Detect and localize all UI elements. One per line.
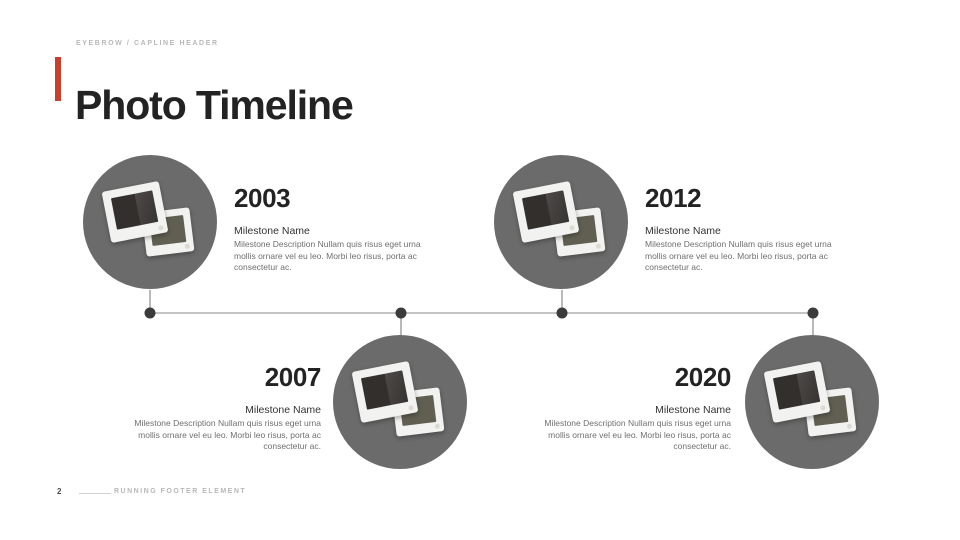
photo-slide-knob [185, 243, 191, 249]
milestone-name: Milestone Name [535, 403, 731, 417]
milestone-description: Milestone Description Nullam quis risus … [234, 239, 430, 274]
footer-label: RUNNING FOOTER ELEMENT [114, 488, 246, 495]
title-accent-bar [55, 57, 61, 101]
milestone-year: 2003 [234, 183, 430, 213]
photo-slide-knob [596, 243, 602, 249]
photo-slide-knob [569, 225, 575, 231]
photo-slide-window [111, 190, 158, 229]
timeline-node-dot-2020[interactable] [808, 308, 819, 319]
milestone-name: Milestone Name [645, 224, 841, 238]
photo-slide-front [352, 361, 419, 423]
milestone-year: 2007 [125, 362, 321, 392]
milestone-name: Milestone Name [125, 403, 321, 417]
milestone-2012: 2012 Milestone Name Milestone Descriptio… [645, 183, 841, 274]
footer-divider [79, 493, 111, 494]
timeline-axis [149, 312, 812, 314]
milestone-2020: 2020 Milestone Name Milestone Descriptio… [535, 362, 731, 453]
timeline-node-dot-2012[interactable] [557, 308, 568, 319]
photo-slide-front [764, 361, 831, 423]
photo-slide-window [522, 190, 569, 229]
page-title: Photo Timeline [75, 82, 353, 128]
photo-slide-window [773, 370, 820, 409]
milestone-year: 2020 [535, 362, 731, 392]
photo-slide-knob [847, 423, 853, 429]
photo-circle-2020[interactable] [745, 335, 879, 469]
photo-circle-2003[interactable] [83, 155, 217, 289]
milestone-name: Milestone Name [234, 224, 430, 238]
photo-slides-icon [102, 184, 198, 260]
photo-circle-2012[interactable] [494, 155, 628, 289]
timeline-node-dot-2007[interactable] [396, 308, 407, 319]
milestone-year: 2012 [645, 183, 841, 213]
photo-slide-front [102, 181, 169, 243]
footer-page-number: 2 [57, 487, 61, 496]
photo-slides-icon [513, 184, 609, 260]
photo-slide-knob [158, 225, 164, 231]
photo-circle-2007[interactable] [333, 335, 467, 469]
photo-slide-window [361, 370, 408, 409]
photo-slides-icon [352, 364, 448, 440]
eyebrow-label: EYEBROW / CAPLINE HEADER [76, 40, 219, 47]
timeline-node-dot-2003[interactable] [145, 308, 156, 319]
photo-slide-knob [435, 423, 441, 429]
milestone-2007: 2007 Milestone Name Milestone Descriptio… [125, 362, 321, 453]
milestone-2003: 2003 Milestone Name Milestone Descriptio… [234, 183, 430, 274]
photo-slide-front [513, 181, 580, 243]
milestone-description: Milestone Description Nullam quis risus … [645, 239, 841, 274]
photo-slides-icon [764, 364, 860, 440]
photo-slide-knob [408, 405, 414, 411]
milestone-description: Milestone Description Nullam quis risus … [535, 418, 731, 453]
milestone-description: Milestone Description Nullam quis risus … [125, 418, 321, 453]
photo-slide-knob [820, 405, 826, 411]
